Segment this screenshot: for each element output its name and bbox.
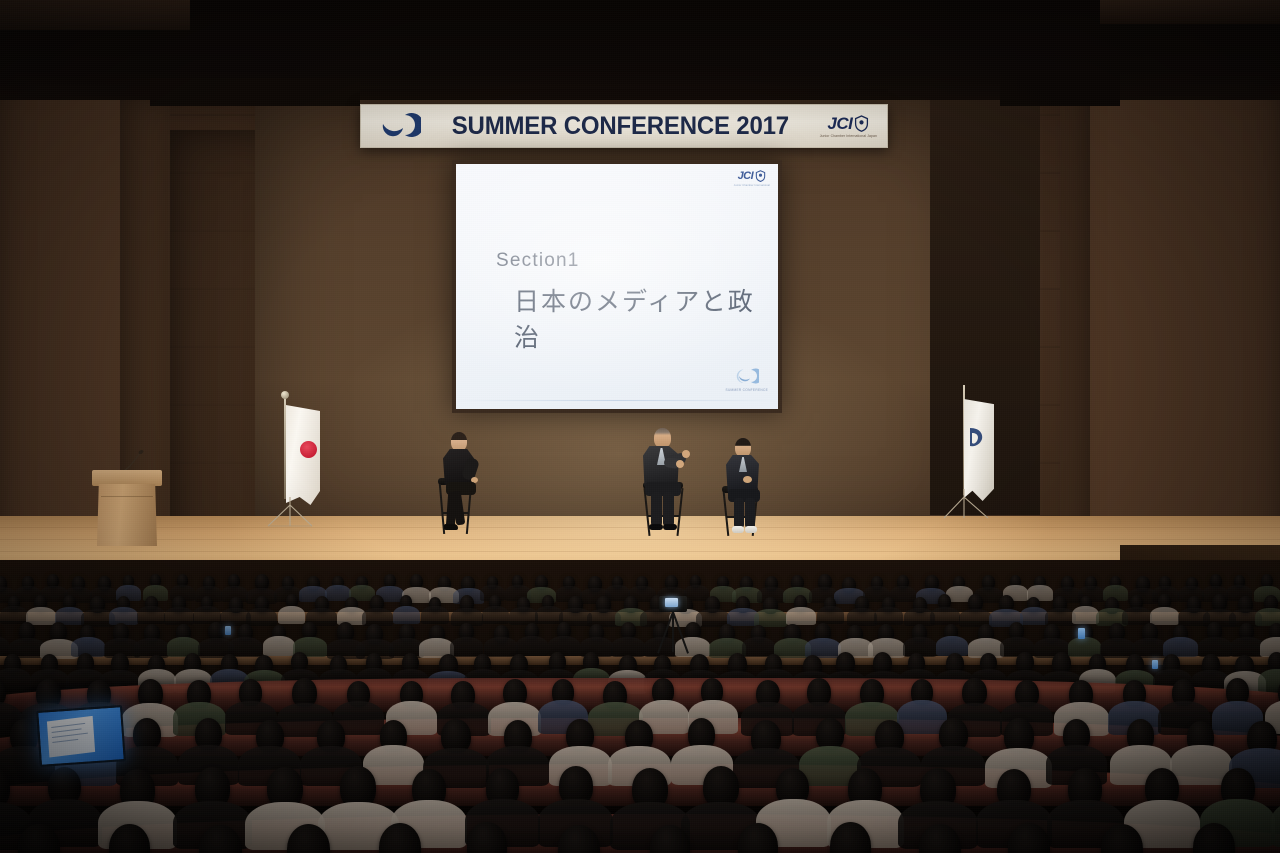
slide-jci-logo: JCI Junior Chamber International [734, 170, 770, 187]
slide-jci-subtitle: Junior Chamber International [734, 184, 770, 187]
audience-member-shoulders [786, 607, 816, 625]
slide-heading-text: 日本のメディアと政治 [514, 282, 778, 354]
speaker-center-leg [651, 492, 662, 526]
summer-conference-swirl-icon [735, 367, 759, 387]
camera-lcd-screen [665, 598, 678, 607]
audience-member-shoulders [930, 607, 960, 625]
speaker-right-hand [743, 476, 752, 483]
jci-subtitle-text: Junior Chamber International Japan [820, 134, 877, 138]
jci-flag-tripod [942, 489, 994, 519]
audience-member-shoulders [134, 638, 169, 658]
speaker-right-leg [734, 498, 744, 528]
audience-member-shoulders [246, 608, 277, 626]
speaker-center-shoe [663, 524, 677, 530]
audience-area [0, 560, 1280, 853]
speaker-right [724, 438, 766, 536]
slide-jci-shield-icon [755, 170, 766, 182]
slide-footer-logo: SUMMER CONFERENCE [726, 367, 768, 393]
audience-member-shoulders [137, 606, 165, 624]
speaker-right-shoe [745, 526, 757, 533]
slide-bottom-rule [456, 400, 778, 401]
audience-member-shoulders [1072, 606, 1099, 624]
japan-flag-tripod [264, 497, 316, 527]
presentation-slide: JCI Junior Chamber International Section… [456, 164, 778, 409]
audience-member-shoulders [393, 606, 420, 624]
laptop-document-window [47, 716, 95, 758]
audience-laptop [36, 705, 126, 767]
audience-member-shoulders [484, 637, 518, 657]
slide-jci-abbr: JCI [738, 171, 754, 182]
slide-footer-logo-label: SUMMER CONFERENCE [726, 388, 768, 393]
speaker-left-shoe [444, 524, 458, 530]
lectern-seam [101, 496, 153, 497]
laptop-screen [36, 705, 126, 767]
audience-member-shoulders [611, 637, 645, 657]
conference-photo-scene: SUMMER CONFERENCE 2017 JCI Junior Chambe… [0, 0, 1280, 853]
microphone-icon [122, 448, 146, 472]
audience-member-shoulders [1020, 607, 1048, 625]
video-camera-tripod [655, 596, 691, 674]
ceiling-lip-left [0, 0, 190, 30]
audience-member-shoulders [278, 606, 305, 624]
slide-section-label: Section1 [496, 250, 580, 272]
ceiling-notch-left [150, 78, 360, 106]
audience-member-shoulders [109, 607, 138, 625]
infinity-swirl-logo-icon [375, 109, 421, 143]
lectern-top [92, 470, 162, 486]
speaker-right-lap [728, 489, 760, 502]
audience-member-shoulders [263, 636, 295, 656]
conference-banner: SUMMER CONFERENCE 2017 JCI Junior Chambe… [360, 104, 888, 148]
lectern-body [97, 484, 157, 546]
audience-member-shoulders [482, 606, 509, 624]
ceiling-lip-right [1100, 0, 1280, 24]
speaker-center-leg [663, 492, 674, 526]
audience-member-shoulders [847, 608, 877, 626]
jci-shield-icon [854, 115, 869, 132]
japan-flag-pole [284, 395, 286, 499]
audience-member-shoulders [362, 608, 393, 626]
audience-member-shoulders [0, 636, 9, 656]
speaker-center-hand-right [676, 460, 684, 468]
audience-phone-screen [225, 626, 231, 635]
audience-member-shoulders [164, 607, 194, 625]
speaker-center-shoe [649, 524, 663, 530]
speaker-left [440, 432, 480, 532]
audience-member-shoulders [1230, 637, 1264, 657]
banner-jci-logo: JCI Junior Chamber International Japan [820, 115, 877, 138]
speaker-center-head [654, 428, 671, 448]
video-camera-body [659, 596, 687, 612]
banner-title-text: SUMMER CONFERENCE 2017 [429, 112, 812, 141]
speaker-right-shoe [732, 526, 744, 533]
ceiling-notch-right [1000, 70, 1120, 106]
speaker-right-head [735, 438, 751, 457]
audience-phone-screen [1152, 660, 1158, 669]
hinomaru-disc-icon [300, 441, 317, 458]
speaker-right-leg [745, 498, 755, 528]
jci-abbr-text: JCI [827, 115, 852, 132]
speaker-left-head [451, 432, 467, 451]
lectern [92, 470, 162, 546]
speaker-center [640, 428, 688, 534]
jci-flag-emblem-icon [967, 425, 985, 451]
audience-member-shoulders [421, 606, 449, 624]
audience-member-shoulders [516, 636, 548, 656]
audience-member-shoulders [817, 606, 844, 624]
projection-screen: JCI Junior Chamber International Section… [452, 160, 782, 413]
audience-phone-screen [1078, 628, 1085, 639]
audience-member-shoulders [1271, 799, 1280, 847]
jci-flag [958, 385, 1014, 530]
audience-member-shoulders [0, 606, 28, 624]
audience-member-shoulders [874, 607, 903, 625]
japan-flag-finial [281, 391, 289, 399]
speaker-center-hand-left [682, 450, 690, 458]
audience-member-shoulders [1150, 607, 1179, 625]
audience-member-shoulders [1258, 669, 1280, 693]
japan-flag [272, 393, 332, 533]
